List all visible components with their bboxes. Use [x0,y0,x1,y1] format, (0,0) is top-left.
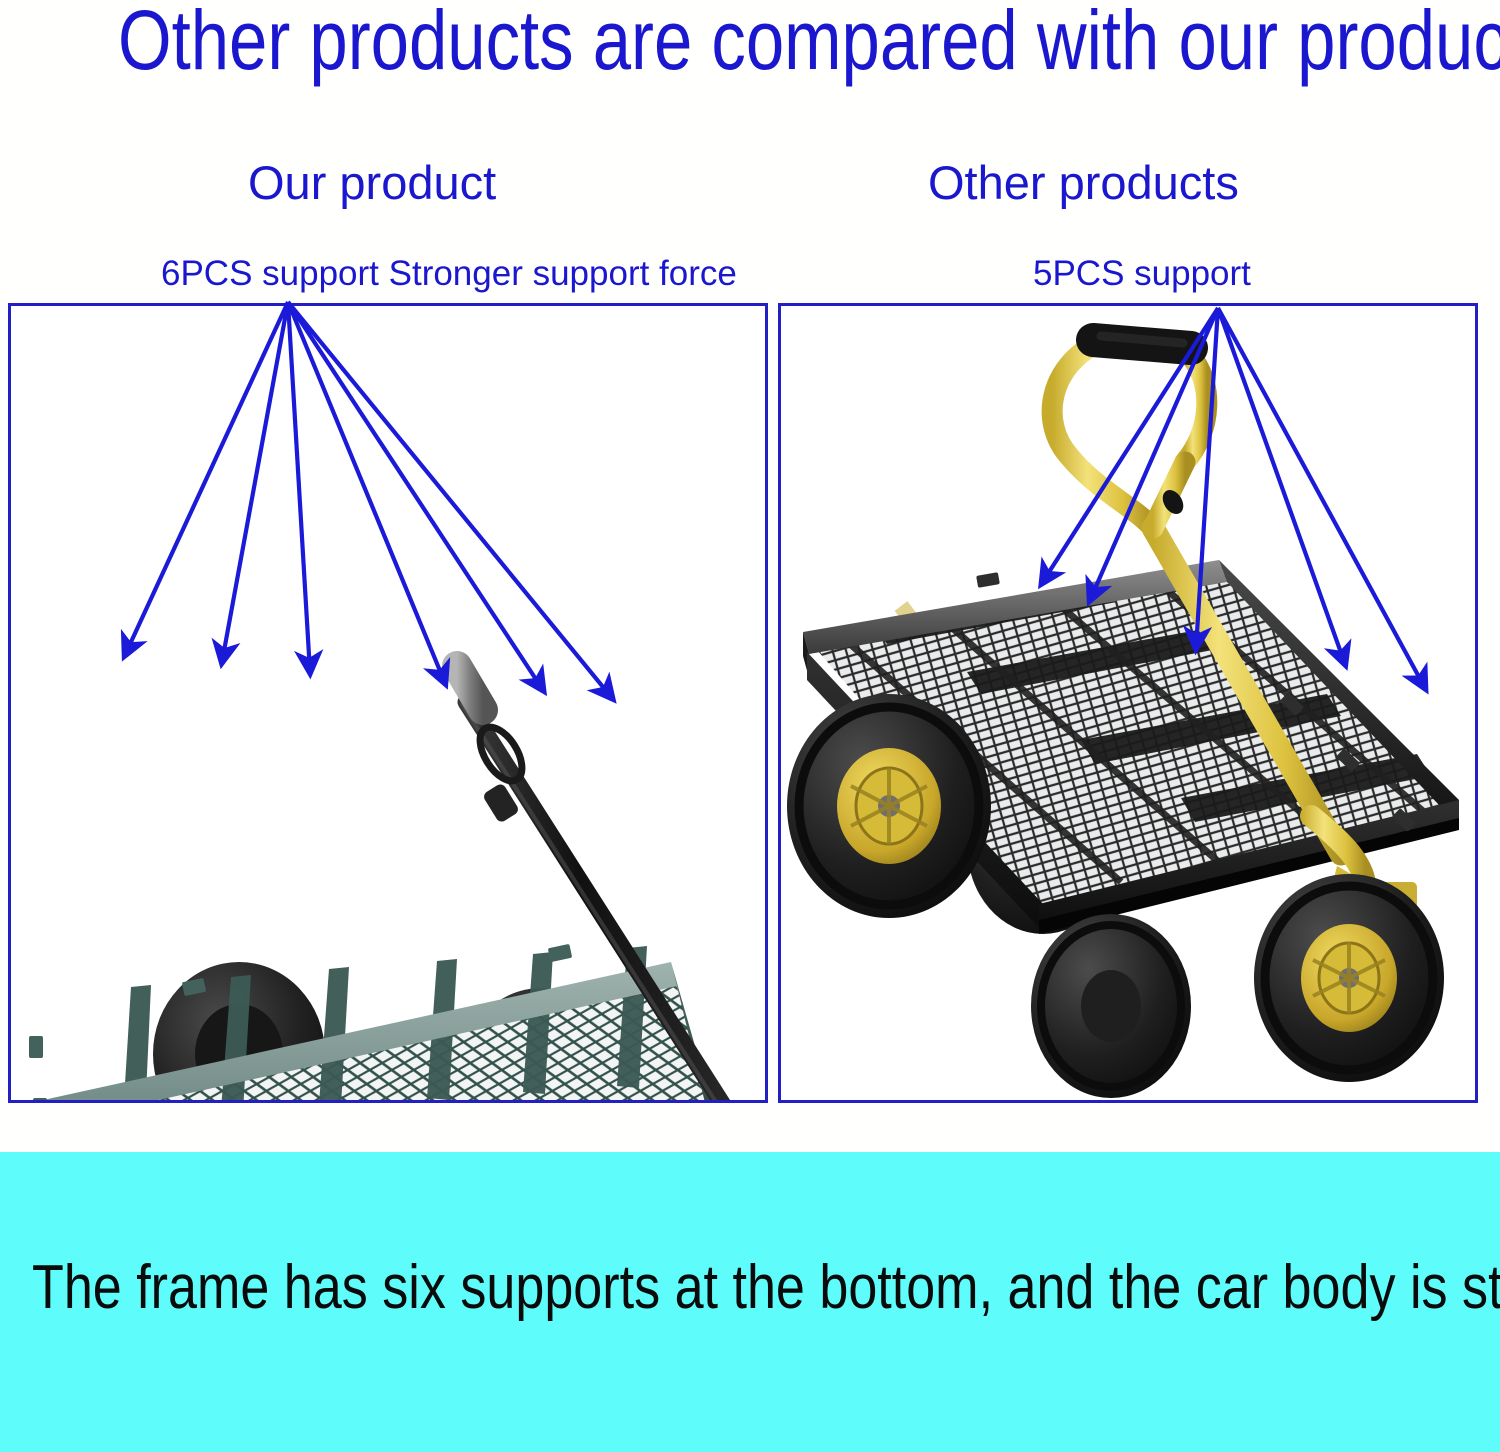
garden-cart-black-icon [781,306,1478,1103]
support-caption-right: 5PCS support [1033,253,1251,295]
page-title: Other products are compared with our pro… [118,0,1184,86]
wheel-near-right [1254,874,1444,1082]
panel-our-product [8,303,768,1103]
garden-cart-green-icon [11,636,768,1103]
wheel-near-middle [1031,914,1191,1098]
wheel-near-left [787,694,991,918]
column-heading-our-product: Our product [248,155,496,211]
panel-other-products [778,303,1478,1103]
support-caption-left: 6PCS support Stronger support force [161,253,737,295]
banner-caption: The frame has six supports at the bottom… [32,1252,1233,1324]
column-heading-other-products: Other products [928,155,1239,211]
